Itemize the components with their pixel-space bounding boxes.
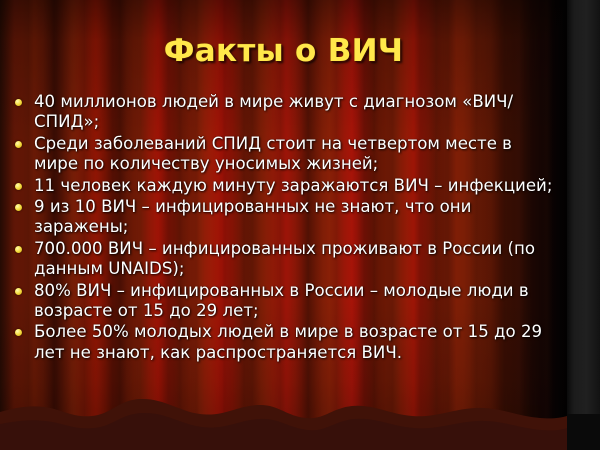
bullet-dot-icon: [15, 183, 22, 190]
bullet-dot-icon: [15, 141, 22, 148]
bullet-text: 80% ВИЧ – инфицированных в России – моло…: [34, 281, 560, 322]
bullet-text: 40 миллионов людей в мире живут с диагно…: [34, 92, 560, 133]
list-item: 700.000 ВИЧ – инфицированных проживают в…: [8, 239, 560, 280]
bullet-dot-icon: [15, 99, 22, 106]
right-side-panel: [567, 0, 600, 450]
list-item: Среди заболеваний СПИД стоит на четверто…: [8, 134, 560, 175]
list-item: 40 миллионов людей в мире живут с диагно…: [8, 92, 560, 133]
bullet-dot-icon: [15, 329, 22, 336]
bullet-text: Более 50% молодых людей в мире в возраст…: [34, 322, 560, 363]
slide-title: Факты о ВИЧ: [0, 33, 567, 69]
bullet-dot-icon: [15, 288, 22, 295]
facts-bullet-list: 40 миллионов людей в мире живут с диагно…: [8, 92, 560, 364]
bullet-text: 9 из 10 ВИЧ – инфицированных не знают, ч…: [34, 197, 560, 238]
bullet-text: 700.000 ВИЧ – инфицированных проживают в…: [34, 239, 560, 280]
bullet-dot-icon: [15, 246, 22, 253]
list-item: 80% ВИЧ – инфицированных в России – моло…: [8, 281, 560, 322]
list-item: Более 50% молодых людей в мире в возраст…: [8, 322, 560, 363]
right-side-panel-footer: [567, 414, 600, 450]
bullet-dot-icon: [15, 204, 22, 211]
list-item: 11 человек каждую минуту заражаются ВИЧ …: [8, 176, 560, 196]
slide-content: Факты о ВИЧ 40 миллионов людей в мире жи…: [0, 0, 567, 450]
list-item: 9 из 10 ВИЧ – инфицированных не знают, ч…: [8, 197, 560, 238]
presentation-slide: Факты о ВИЧ 40 миллионов людей в мире жи…: [0, 0, 600, 450]
bullet-text: Среди заболеваний СПИД стоит на четверто…: [34, 134, 560, 175]
bullet-text: 11 человек каждую минуту заражаются ВИЧ …: [34, 176, 560, 196]
